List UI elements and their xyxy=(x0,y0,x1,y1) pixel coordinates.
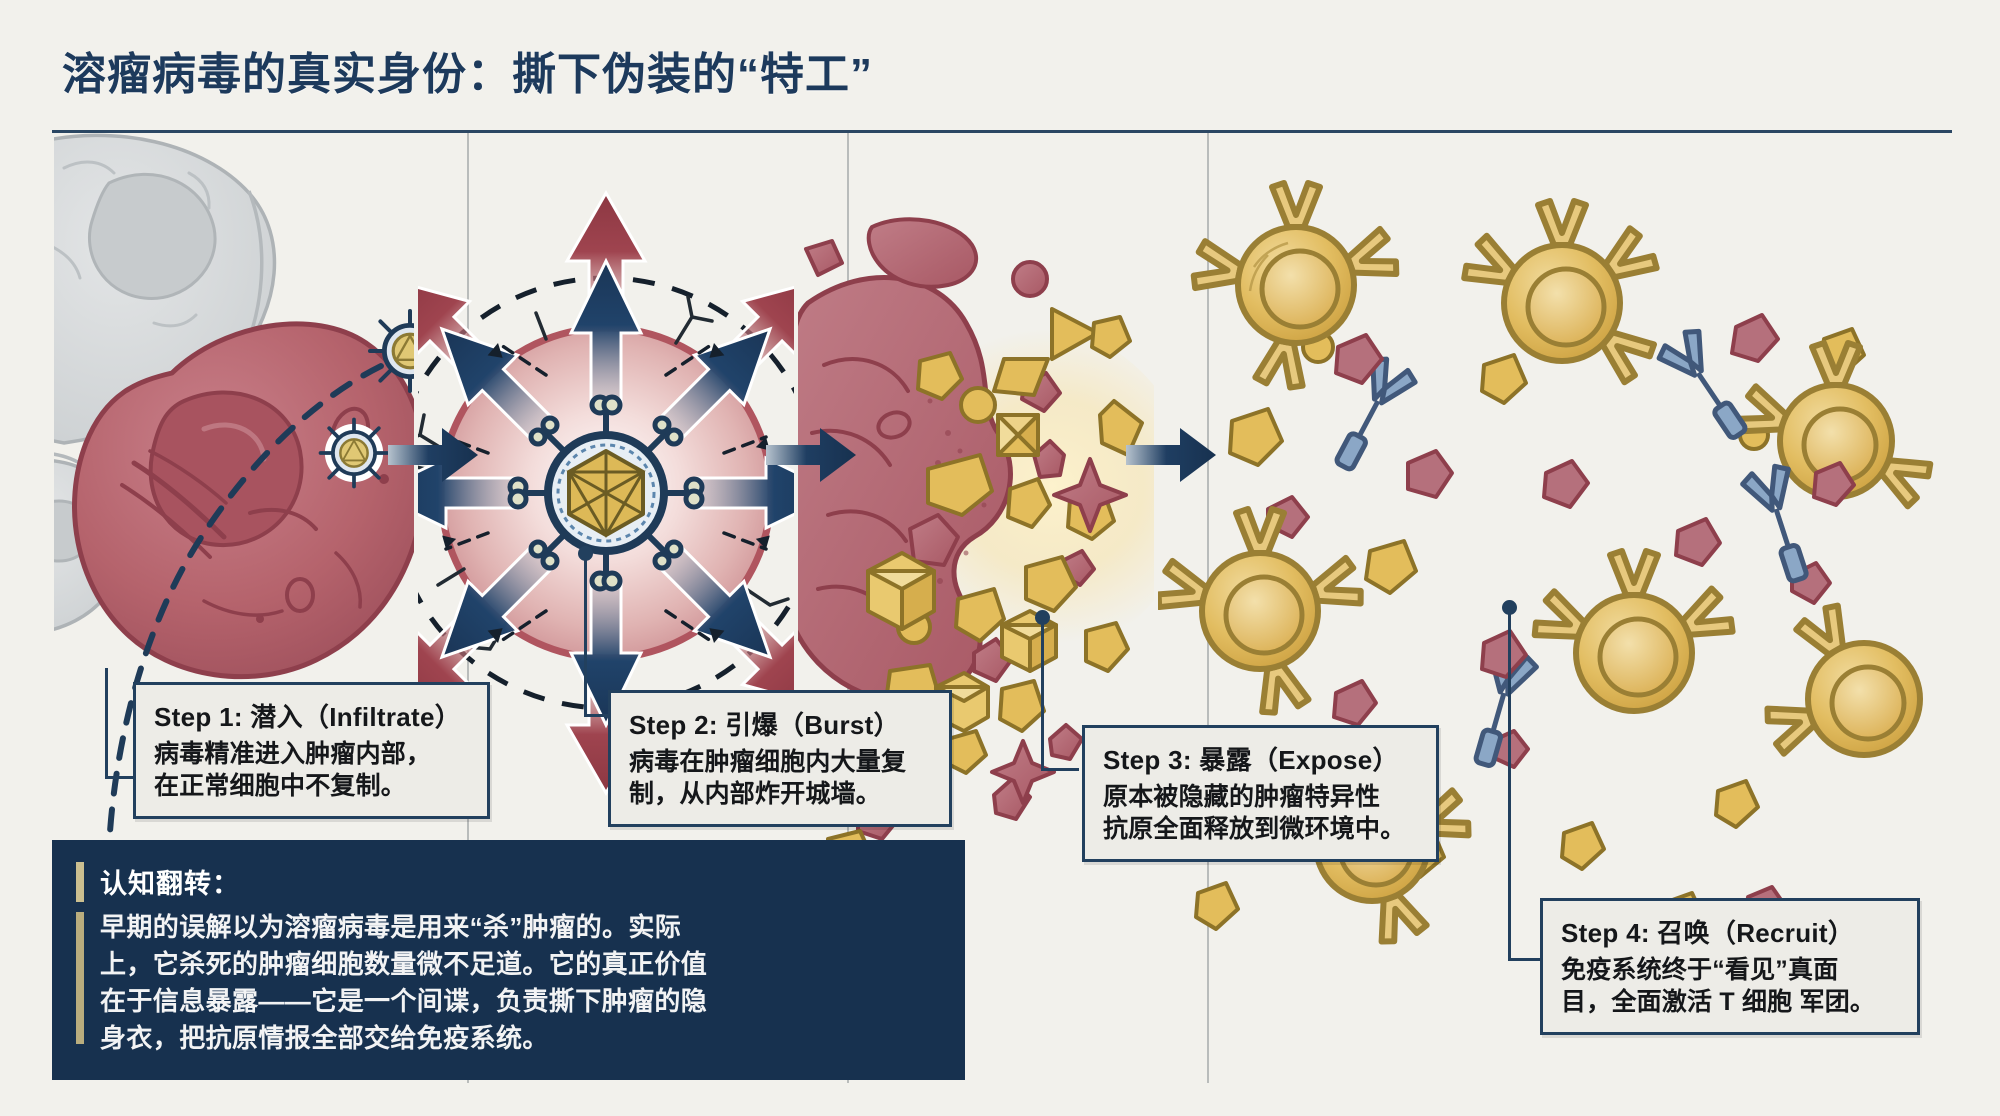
callout-step-1-line-1: 病毒精准进入肿瘤内部， xyxy=(154,738,471,770)
callout-step-2[interactable]: Step 2: 引爆（Burst） 病毒在肿瘤细胞内大量复 制，从内部炸开城墙。 xyxy=(608,690,952,827)
flow-arrow-icon xyxy=(388,425,480,485)
callout-step-2-line-1: 病毒在肿瘤细胞内大量复 xyxy=(629,746,933,778)
infographic-root: 溶瘤病毒的真实身份：撕下伪装的“特工” xyxy=(0,0,2000,1116)
callout-step-1-title: Step 1: 潜入（Infiltrate） xyxy=(154,697,471,734)
callout-step-4[interactable]: Step 4: 召唤（Recruit） 免疫系统终于“看见”真面 目，全面激活 … xyxy=(1540,898,1920,1035)
callout-step-3-line-2: 抗原全面释放到微环境中。 xyxy=(1103,813,1420,845)
accent-bar-top xyxy=(76,862,84,902)
callout-step-3-line-1: 原本被隐藏的肿瘤特异性 xyxy=(1103,781,1420,813)
callout-step-1[interactable]: Step 1: 潜入（Infiltrate） 病毒精准进入肿瘤内部， 在正常细胞… xyxy=(133,682,490,819)
t-cell-icon xyxy=(1531,551,1736,711)
callout-step-1-line-2: 在正常细胞中不复制。 xyxy=(154,770,471,802)
virus-capsid-icon xyxy=(321,420,388,487)
flow-arrow-icon xyxy=(1126,425,1218,485)
callout-step-2-line-2: 制，从内部炸开城墙。 xyxy=(629,778,933,810)
t-cell-icon xyxy=(1461,201,1660,385)
callout-step-2-title: Step 2: 引爆（Burst） xyxy=(629,705,933,742)
insight-line-1: 早期的误解以为溶瘤病毒是用来“杀”肿瘤的。实际 xyxy=(100,909,890,946)
callout-step-4-line-2: 目，全面激活 T 细胞 军团。 xyxy=(1561,986,1901,1018)
t-cell-icon xyxy=(1764,602,1920,755)
insight-label: 认知翻转： xyxy=(100,862,935,901)
insight-line-2: 上，它杀死的肿瘤细胞数量微不足道。它的真正价值 xyxy=(100,946,890,983)
insight-panel: 认知翻转： 早期的误解以为溶瘤病毒是用来“杀”肿瘤的。实际 上，它杀死的肿瘤细胞… xyxy=(52,840,965,1080)
accent-bar-bottom xyxy=(76,912,84,1044)
callout-step-4-line-1: 免疫系统终于“看见”真面 xyxy=(1561,954,1901,986)
callout-step-3[interactable]: Step 3: 暴露（Expose） 原本被隐藏的肿瘤特异性 抗原全面释放到微环… xyxy=(1082,725,1439,862)
flow-arrow-icon xyxy=(766,425,858,485)
callout-step-3-title: Step 3: 暴露（Expose） xyxy=(1103,740,1420,777)
insight-line-3: 在于信息暴露——它是一个间谍，负责撕下肿瘤的隐 xyxy=(100,983,890,1020)
callout-step-4-title: Step 4: 召唤（Recruit） xyxy=(1561,913,1901,950)
t-cell-icon xyxy=(1158,509,1364,716)
insight-line-4: 身衣，把抗原情报全部交给免疫系统。 xyxy=(100,1020,890,1057)
antigen-fragment-icon xyxy=(998,415,1038,455)
page-title: 溶瘤病毒的真实身份：撕下伪装的“特工” xyxy=(62,38,873,102)
